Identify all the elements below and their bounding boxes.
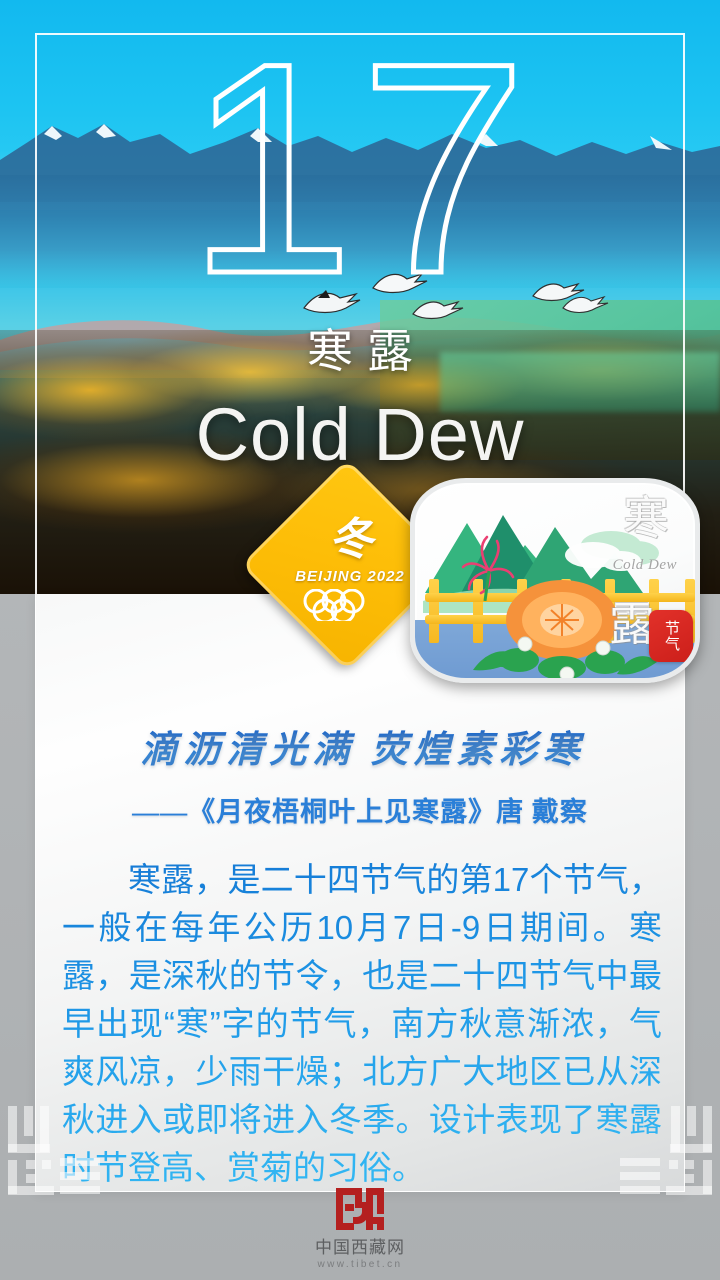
beijing-2022-wordmark: BEIJING 2022 (280, 568, 420, 585)
footer: 中国西藏网 www.tibet.cn (0, 1184, 720, 1272)
poem-line: 滴沥清光满 荧煌素彩寒 (35, 727, 685, 775)
description-paragraph: 寒露，是二十四节气的第17个节气，一般在每年公历10月7日-9日期间。寒露，是深… (62, 856, 662, 1192)
solar-term-chinese: 寒露 (0, 325, 720, 377)
emblem-group: 冬 BEIJING 2022 (262, 470, 702, 700)
spider-lily-flower-icon (451, 531, 521, 601)
poster-root: 17 寒露 Cold Dew 冬 BEIJING 2022 (0, 0, 720, 1280)
site-url: www.tibet.cn (0, 1258, 720, 1272)
medal-english-label: Cold Dew (613, 557, 677, 574)
beijing-2022-emblem-content: 冬 BEIJING 2022 (280, 518, 420, 648)
solar-term-seal-stamp: 节气 (649, 610, 693, 662)
olympic-rings-icon (280, 589, 420, 621)
seal-text: 节气 (663, 620, 679, 652)
solar-term-english: Cold Dew (0, 392, 720, 478)
tibet-net-logo-icon (332, 1184, 388, 1234)
site-name: 中国西藏网 (0, 1238, 720, 1258)
medal-char-han: 寒 (623, 495, 669, 541)
day-number: 17 (0, 18, 720, 318)
cold-dew-medal-emblem: 寒 Cold Dew 露 节气 (410, 478, 700, 683)
winter-glyph-icon: 冬 (280, 518, 420, 562)
poem-source: ——《月夜梧桐叶上见寒露》唐 戴察 (35, 794, 685, 830)
